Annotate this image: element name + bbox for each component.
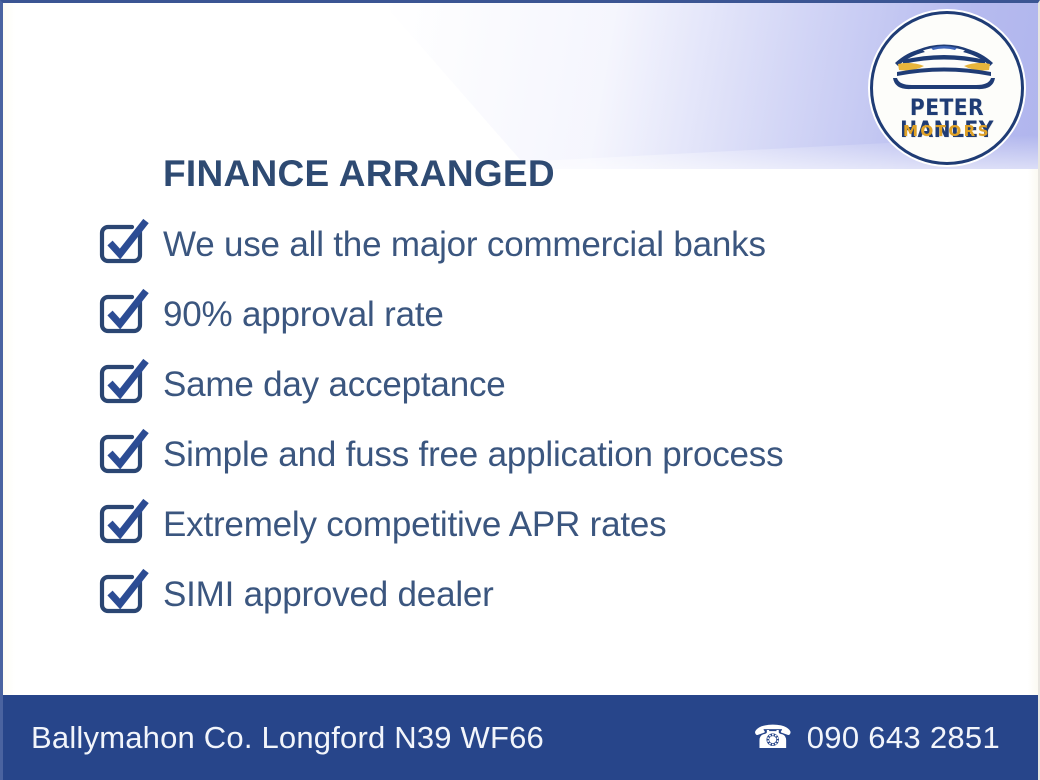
list-item: Simple and fuss free application process bbox=[95, 419, 985, 489]
list-item-label: Extremely competitive APR rates bbox=[163, 507, 666, 542]
paper-edge-left bbox=[3, 3, 15, 780]
list-item-label: 90% approval rate bbox=[163, 297, 444, 332]
footer-contact-bar: Ballymahon Co. Longford N39 WF66 ☎ 090 6… bbox=[3, 695, 1038, 780]
checkbox-checked-icon bbox=[95, 566, 151, 622]
checkbox-checked-icon bbox=[95, 216, 151, 272]
footer-phone-group: ☎ 090 643 2851 bbox=[753, 720, 1000, 756]
dealer-logo-badge: PETER HANLEY MOTORS bbox=[870, 11, 1024, 165]
checkbox-checked-icon bbox=[95, 356, 151, 412]
list-item: Extremely competitive APR rates bbox=[95, 489, 985, 559]
list-item: SIMI approved dealer bbox=[95, 559, 985, 629]
checkbox-checked-icon bbox=[95, 496, 151, 552]
car-front-icon bbox=[881, 30, 1007, 92]
paper-edge-right bbox=[1028, 3, 1038, 780]
list-item-label: Same day acceptance bbox=[163, 367, 506, 402]
checkbox-checked-icon bbox=[95, 286, 151, 342]
list-item: Same day acceptance bbox=[95, 349, 985, 419]
list-item-label: Simple and fuss free application process bbox=[163, 437, 783, 472]
footer-address: Ballymahon Co. Longford N39 WF66 bbox=[31, 720, 544, 756]
footer-phone-number: 090 643 2851 bbox=[807, 720, 1000, 756]
telephone-icon: ☎ bbox=[753, 721, 793, 753]
list-item: 90% approval rate bbox=[95, 279, 985, 349]
list-item: We use all the major commercial banks bbox=[95, 209, 985, 279]
logo-sub: MOTORS bbox=[873, 124, 1021, 139]
finance-arranged-poster: PETER HANLEY MOTORS FINANCE ARRANGED We … bbox=[0, 0, 1040, 780]
list-item-label: We use all the major commercial banks bbox=[163, 227, 766, 262]
feature-list: We use all the major commercial banks 90… bbox=[95, 209, 985, 629]
checkbox-checked-icon bbox=[95, 426, 151, 482]
page-title: FINANCE ARRANGED bbox=[163, 153, 555, 195]
list-item-label: SIMI approved dealer bbox=[163, 577, 494, 612]
